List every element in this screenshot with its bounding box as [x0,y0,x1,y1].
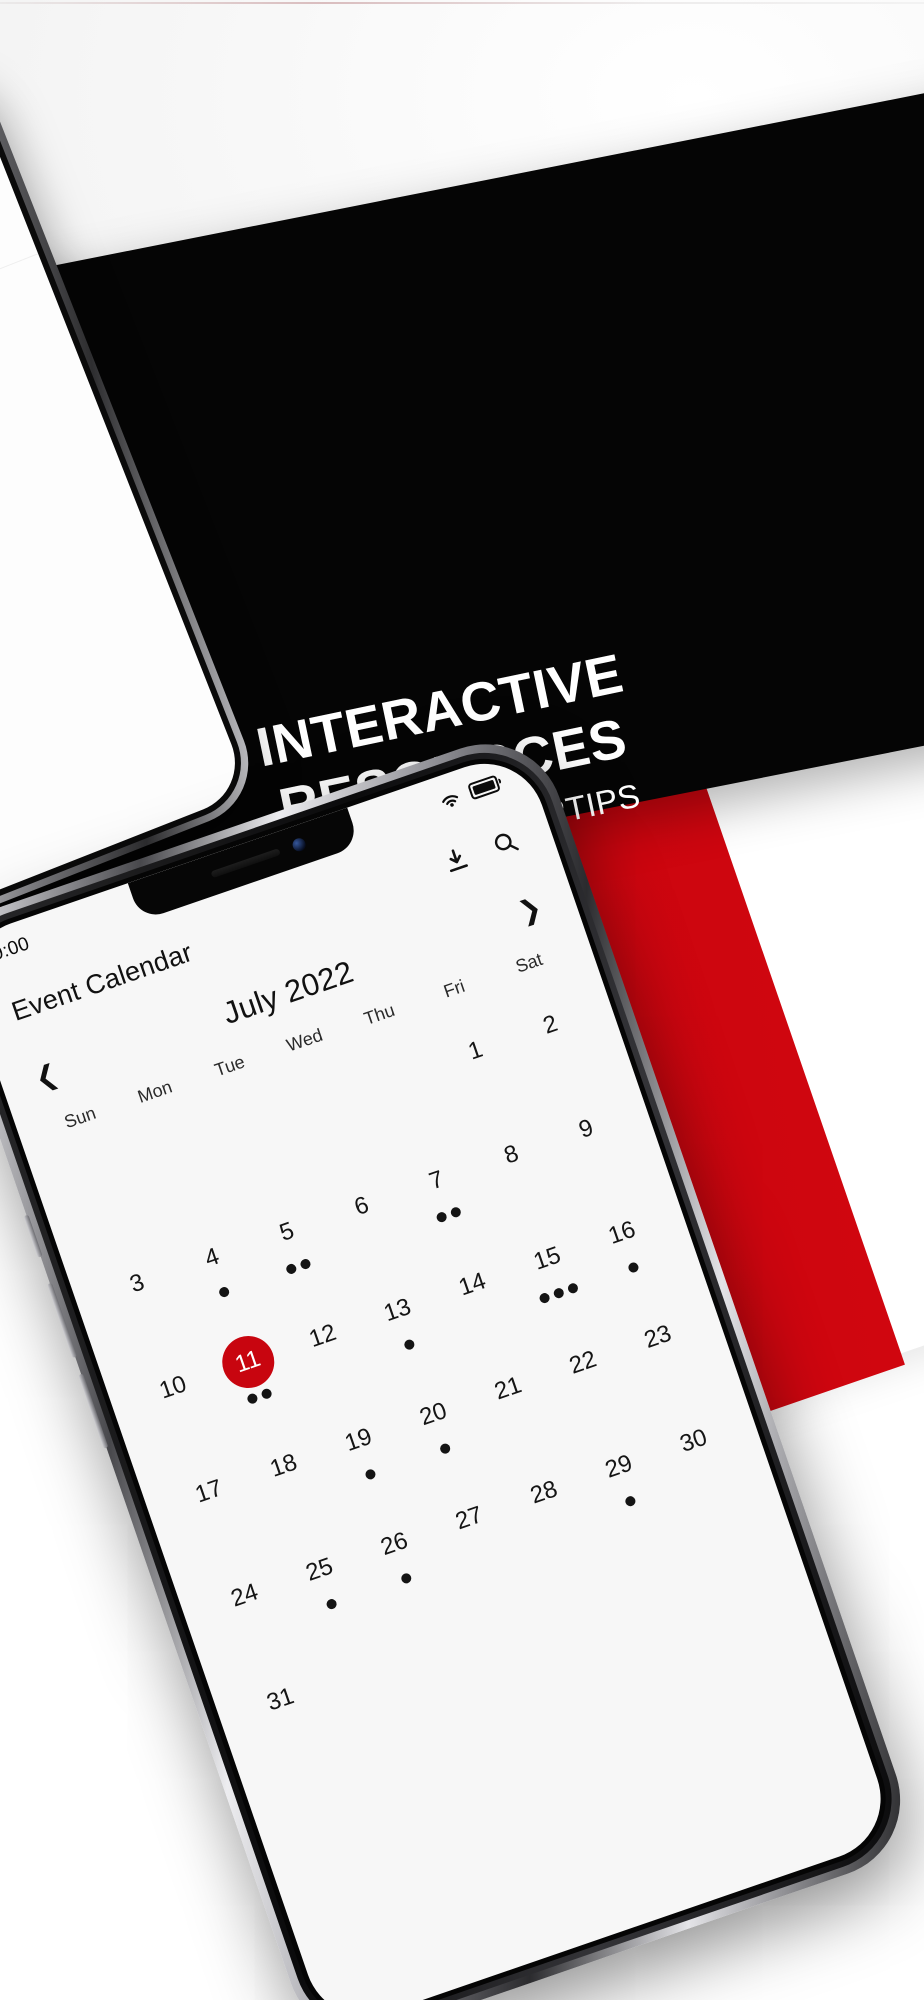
day-number: 24 [212,1563,278,1629]
prev-month-button[interactable]: ❮ [31,1060,61,1093]
day-number: 4 [179,1225,245,1291]
event-dots [704,1470,708,1480]
event-dot [217,1285,230,1298]
day-number: 18 [251,1433,317,1499]
event-dots [596,1158,600,1168]
day-number: 2 [517,992,583,1058]
event-dots [518,1417,522,1427]
event-dots [403,1337,416,1351]
day-number: 10 [140,1355,206,1421]
event-dot [567,1281,580,1294]
next-month-button[interactable]: ❯ [515,893,545,926]
event-dots [668,1366,672,1376]
day-number: 13 [365,1278,431,1344]
day-number: 5 [254,1199,320,1265]
event-dots [521,1183,525,1193]
app-bar-actions [440,827,522,877]
event-dots [285,1257,312,1276]
day-number: 11 [215,1329,281,1395]
day-number: 6 [329,1174,395,1240]
event-dots [627,1260,640,1274]
event-dots [246,1386,273,1405]
day-number: 19 [326,1407,392,1473]
top-hairline [0,2,924,4]
list-divider [0,253,38,402]
day-number: 29 [586,1434,652,1500]
day-number: 16 [589,1200,655,1266]
day-number: 23 [625,1304,691,1370]
event-dot [403,1338,416,1351]
battery-icon [467,774,501,800]
event-dots [217,1285,230,1299]
event-dots [364,1467,377,1481]
event-dots [255,1624,259,1634]
event-dots [482,1313,486,1323]
promo-composition: INTERACTIVE RESOURCES AT YOUR FINGERTIPS… [0,0,924,2000]
day-number: 21 [475,1356,541,1422]
event-dots [399,1571,412,1585]
event-dots [325,1597,338,1611]
event-dot [552,1286,565,1299]
download-icon[interactable] [440,843,473,876]
status-icons [435,771,502,814]
event-dots [554,1521,558,1531]
day-number: 17 [176,1459,242,1525]
event-dot [400,1572,413,1585]
event-dots [219,1520,223,1530]
day-number: 31 [248,1667,314,1733]
day-number: 7 [404,1148,470,1214]
day-number: 20 [400,1382,466,1448]
event-dots [372,1235,376,1245]
event-dot [325,1597,338,1610]
day-number: 3 [104,1251,170,1317]
calendar-day-31[interactable]: 31 [235,1662,333,1756]
event-dots [435,1205,462,1224]
caret-icon[interactable]: ⌈ [0,306,6,336]
event-dots [438,1441,451,1455]
event-dots [294,1494,298,1504]
day-number: 1 [443,1018,509,1084]
day-number: 30 [661,1408,727,1474]
day-number: 12 [290,1303,356,1369]
event-dot [260,1387,273,1400]
event-dots [479,1547,483,1557]
event-dots [560,1054,564,1064]
event-dots [593,1391,597,1401]
event-dot [246,1392,259,1405]
event-dots [333,1365,337,1375]
search-icon[interactable] [489,827,522,860]
wifi-icon [435,783,466,814]
day-number: 22 [550,1330,616,1396]
day-number: 27 [436,1486,502,1552]
event-dot [538,1291,551,1304]
event-dot [285,1262,298,1275]
event-dots [147,1312,151,1322]
day-number: 8 [478,1122,544,1188]
day-number: 14 [439,1252,505,1318]
day-number: 28 [511,1460,577,1526]
event-dot [435,1210,448,1223]
day-number: 9 [553,1096,619,1162]
event-dots [485,1079,489,1089]
event-dots [290,1728,294,1738]
event-dots [624,1494,637,1508]
event-dot [449,1206,462,1219]
day-number: 26 [361,1511,427,1577]
event-dot [439,1442,452,1455]
event-dot [627,1260,640,1273]
event-dot [299,1257,312,1270]
day-number: 25 [287,1537,353,1603]
event-dot [624,1494,637,1507]
event-dot [364,1468,377,1481]
status-time: 9:00 [0,933,32,966]
event-dots [183,1416,187,1426]
